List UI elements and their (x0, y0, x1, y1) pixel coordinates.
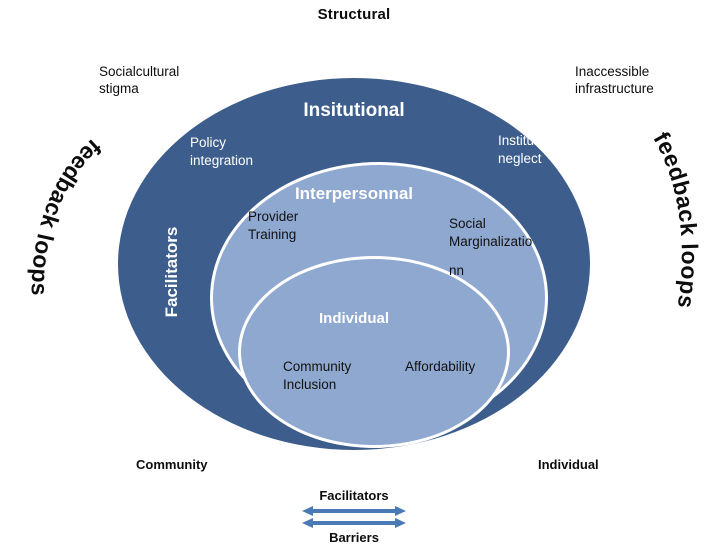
item-social-marginalization-overflow-clip: nn (449, 262, 557, 284)
corner-label-bottom-left: Community (136, 457, 208, 472)
arrow-facilitators-icon (302, 506, 406, 516)
arrow-barriers-icon (302, 518, 406, 528)
feedback-loops-left-text: feedback loops (27, 134, 107, 296)
legend: Facilitators Barriers (0, 488, 708, 545)
item-policy-integration: Policy integration (190, 134, 300, 169)
item-provider-training: Provider Training (248, 208, 348, 243)
ring-heading-institutional: Insitutional (0, 100, 708, 122)
corner-label-top-left: Socialcultural stigma (99, 64, 229, 98)
diagram-canvas: Structural Socialcultural stigma Inacces… (0, 0, 708, 551)
item-institutional-neglect: Institutional neglect (498, 132, 608, 167)
feedback-loops-right: feedback loops (640, 126, 708, 361)
feedback-loops-left: feedback loops (4, 126, 114, 361)
item-community-inclusion: Community Inclusion (283, 358, 387, 393)
legend-label-barriers: Barriers (0, 530, 708, 546)
bidirectional-arrow-icon (302, 506, 406, 528)
feedback-loops-right-text: feedback loops (649, 127, 703, 310)
item-social-marginalization-overflow: nn (449, 262, 557, 280)
ellipse-individual (238, 256, 510, 448)
side-word-facilitators: Facilitators (162, 212, 182, 332)
corner-label-bottom-right: Individual (538, 457, 599, 472)
side-word-barriers: Barriers (588, 212, 608, 332)
page-title: Structural (0, 6, 708, 23)
item-affordability: Affordability (405, 358, 515, 376)
item-social-marginalization: Social Marginalizatio (449, 215, 547, 250)
legend-label-facilitators: Facilitators (0, 488, 708, 504)
corner-label-top-right: Inaccessible infrastructure (575, 64, 708, 98)
